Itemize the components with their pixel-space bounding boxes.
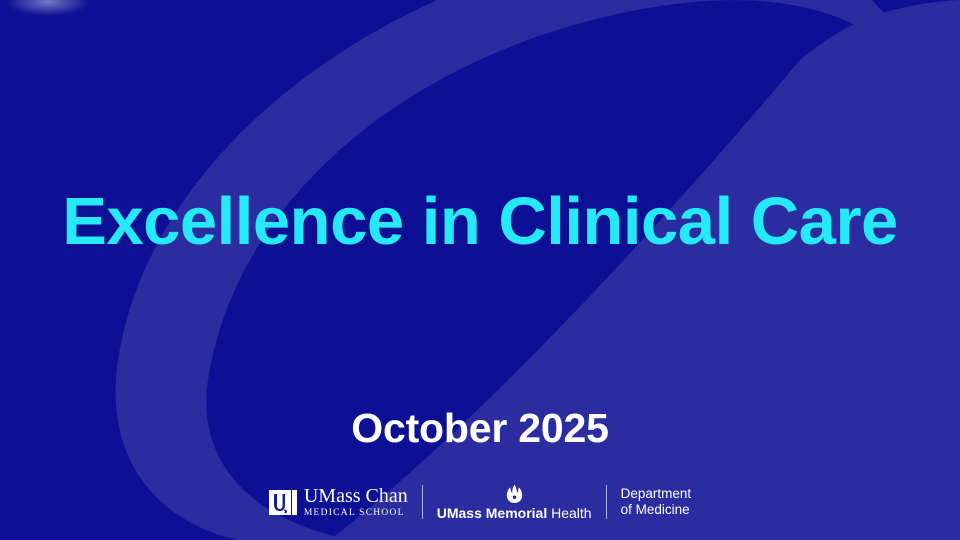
background-swoosh-graphic [0, 0, 960, 540]
umass-memorial-tulip-icon [506, 484, 523, 503]
slide-date: October 2025 [0, 406, 960, 451]
umass-chan-wordmark: UMass Chan MEDICAL SCHOOL [304, 486, 408, 519]
umass-chan-u-mark-icon [269, 490, 297, 515]
logo-divider-1 [422, 485, 423, 519]
umass-chan-name: UMass Chan [304, 486, 408, 506]
logo-umass-chan-medical-school: UMass Chan MEDICAL SCHOOL [269, 479, 408, 525]
umass-chan-subtitle: MEDICAL SCHOOL [304, 507, 408, 519]
department-line-2: of Medicine [621, 502, 692, 518]
logo-bar: UMass Chan MEDICAL SCHOOL UMass Memorial… [0, 478, 960, 526]
umass-memorial-wordmark: UMass Memorial Health [437, 506, 592, 521]
title-slide: Excellence in Clinical Care October 2025… [0, 0, 960, 540]
slide-title: Excellence in Clinical Care [0, 186, 960, 258]
logo-divider-2 [606, 485, 607, 519]
department-line-1: Department [621, 486, 692, 502]
logo-umass-memorial-health: UMass Memorial Health [437, 479, 592, 525]
department-wordmark: Department of Medicine [621, 486, 692, 518]
umass-memorial-name-light: Health [547, 505, 591, 521]
logo-department-of-medicine: Department of Medicine [621, 479, 692, 525]
umass-memorial-name-bold: UMass Memorial [437, 505, 547, 521]
